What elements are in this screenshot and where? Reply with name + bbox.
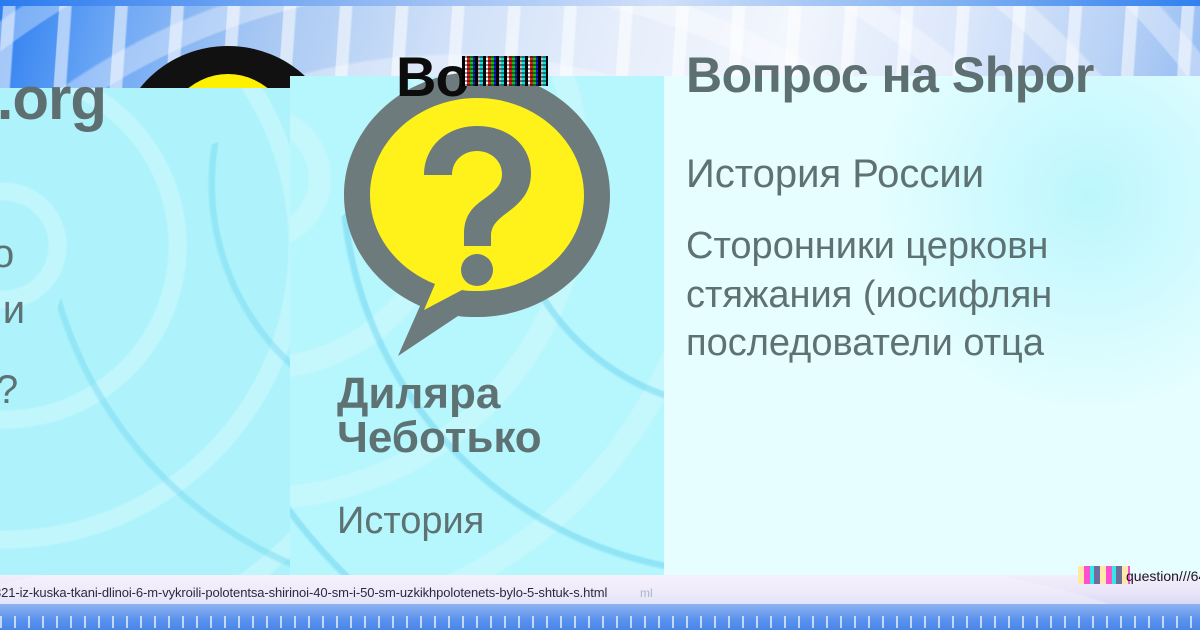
pixel-glitch-artifact-bottom (1078, 566, 1130, 584)
right-body-line-2: стяжания (иосифлян (686, 271, 1200, 320)
bottom-dotted-row (0, 616, 1200, 628)
left-fragment-line-2: не) и (0, 288, 25, 333)
question-speech-bubble-icon (332, 64, 622, 364)
right-body-line-3: последователи отца (686, 319, 1200, 368)
left-fragment-line-3: ? (0, 368, 18, 413)
right-panel-title: Вопрос на Shpor (686, 46, 1094, 104)
right-panel-body: Сторонники церковн стяжания (иосифлян по… (686, 222, 1200, 368)
middle-title-fragment: Во (396, 44, 469, 109)
screenshot-stage: ra.org ного не) и ? Во Диляра Чеботько И… (0, 0, 1200, 630)
author-name: Диляра Чеботько (337, 372, 667, 460)
url-text-left[interactable]: 321-iz-kuska-tkani-dlinoi-6-m-vykroili-p… (0, 585, 607, 600)
subject-label: История (337, 500, 484, 543)
top-edge-strip (0, 0, 1200, 6)
bottom-faint-text: ml (640, 586, 653, 600)
url-text-right[interactable]: question///64 (1126, 568, 1200, 584)
bottom-url-strip (0, 575, 1200, 630)
brand-text-fragment: ra.org (0, 64, 106, 133)
pixel-glitch-artifact-top (462, 56, 548, 86)
right-body-line-1: Сторонники церковн (686, 222, 1200, 271)
left-fragment-line-1: ного (0, 232, 14, 277)
right-panel-subject: История России (686, 152, 984, 197)
left-fragment-panel (0, 88, 292, 575)
